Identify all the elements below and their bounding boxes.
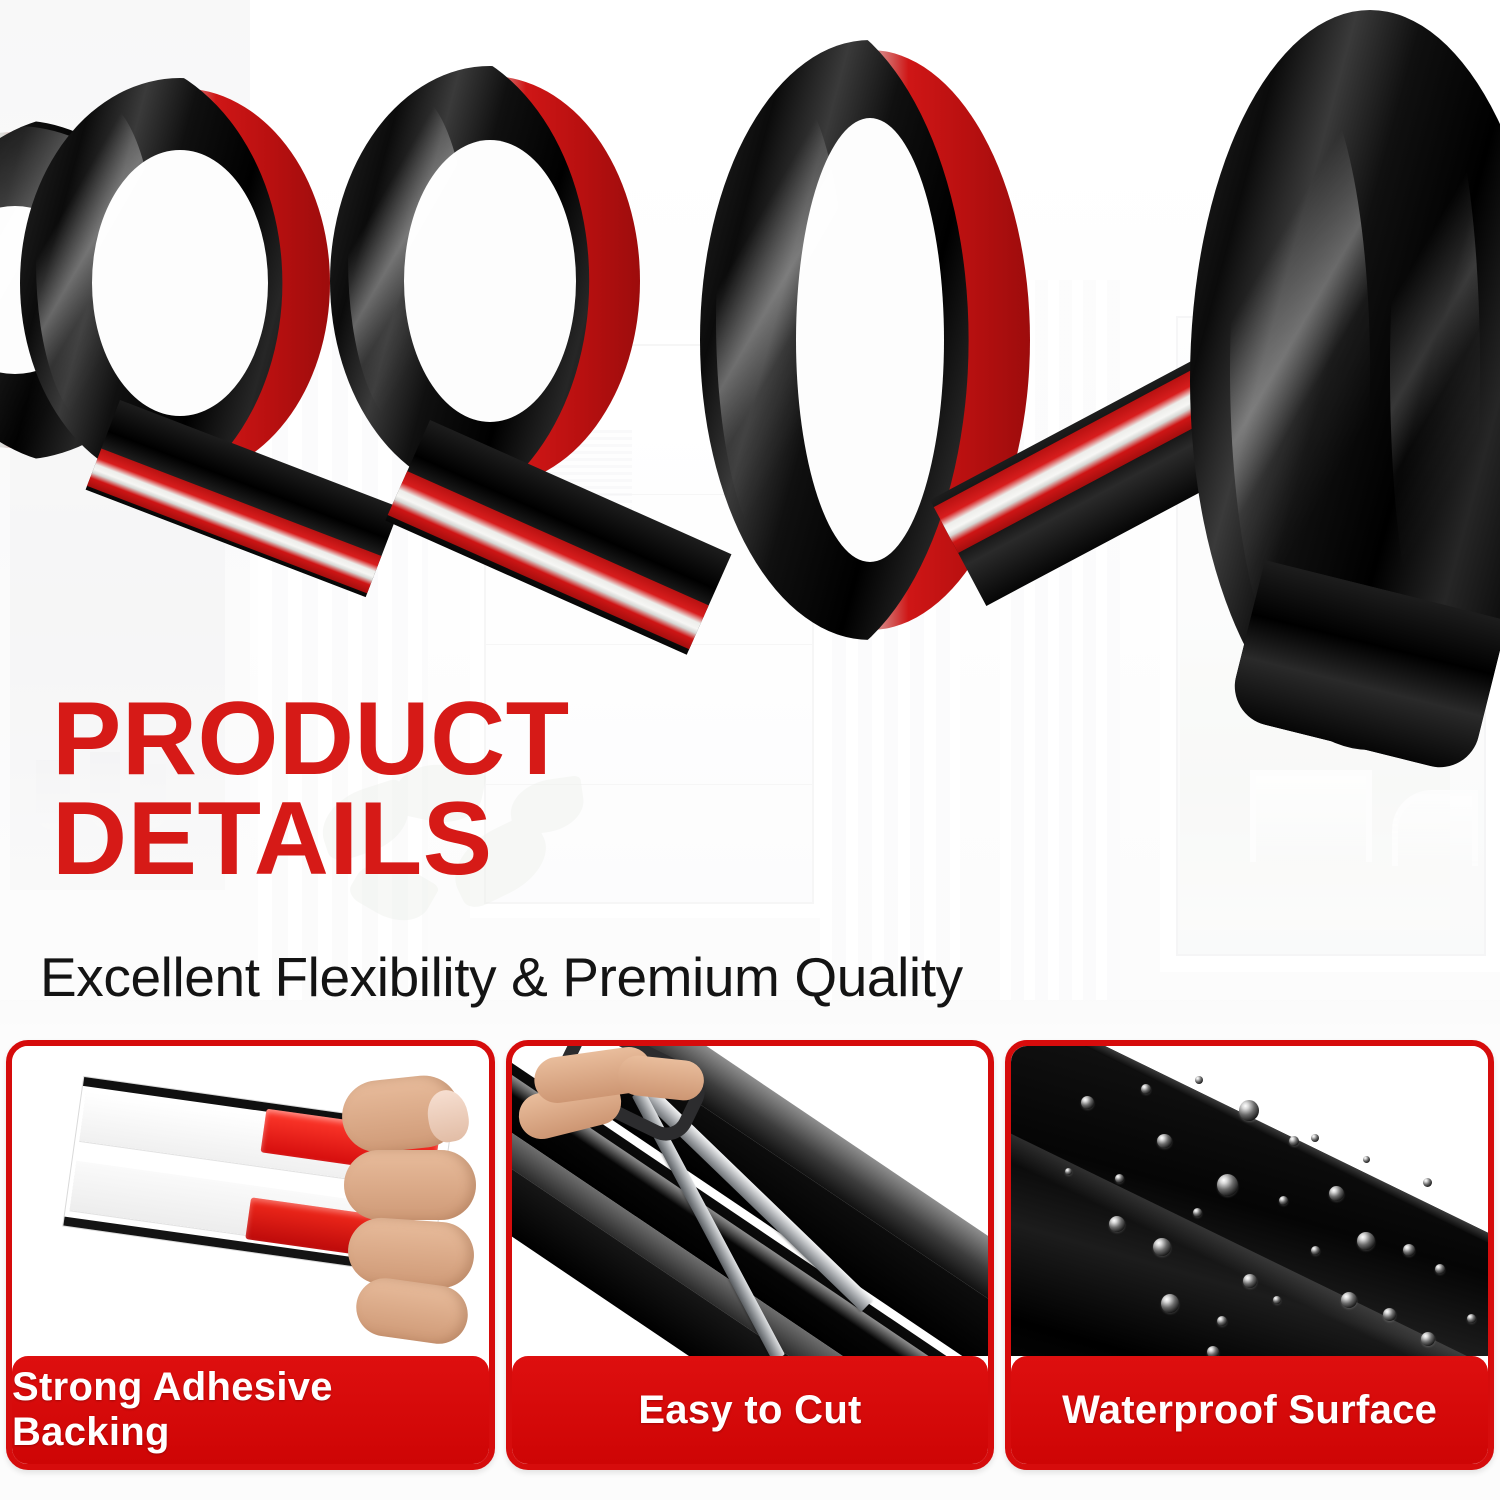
coil-highlight	[36, 98, 156, 428]
feature-image-waterproof	[1011, 1046, 1488, 1356]
coil-ring	[330, 66, 650, 496]
page-subtitle: Excellent Flexibility & Premium Quality	[40, 945, 1240, 1009]
waterproof-surface	[1011, 1046, 1488, 1356]
feature-caption-waterproof: Waterproof Surface	[1011, 1356, 1488, 1464]
feature-card-waterproof[interactable]: Waterproof Surface	[1005, 1040, 1494, 1470]
feature-image-cut	[512, 1046, 989, 1356]
coil-highlight	[1390, 90, 1480, 650]
hand-illustration	[342, 1076, 489, 1326]
coil-highlight	[348, 90, 468, 430]
feature-image-adhesive	[12, 1046, 489, 1356]
page-title: PRODUCT DETAILS	[52, 690, 872, 890]
hero-product-image	[0, 0, 1500, 790]
feature-card-adhesive[interactable]: Strong Adhesive Backing	[6, 1040, 495, 1470]
coil-highlight	[716, 80, 846, 560]
feature-caption-cut: Easy to Cut	[512, 1356, 989, 1464]
infographic-canvas: PRODUCT DETAILS Excellent Flexibility & …	[0, 0, 1500, 1500]
feature-card-row: Strong Adhesive Backing Easy	[0, 1040, 1500, 1470]
hand-illustration	[518, 1052, 708, 1172]
feature-caption-adhesive: Strong Adhesive Backing	[12, 1356, 489, 1464]
feature-card-cut[interactable]: Easy to Cut	[506, 1040, 995, 1470]
